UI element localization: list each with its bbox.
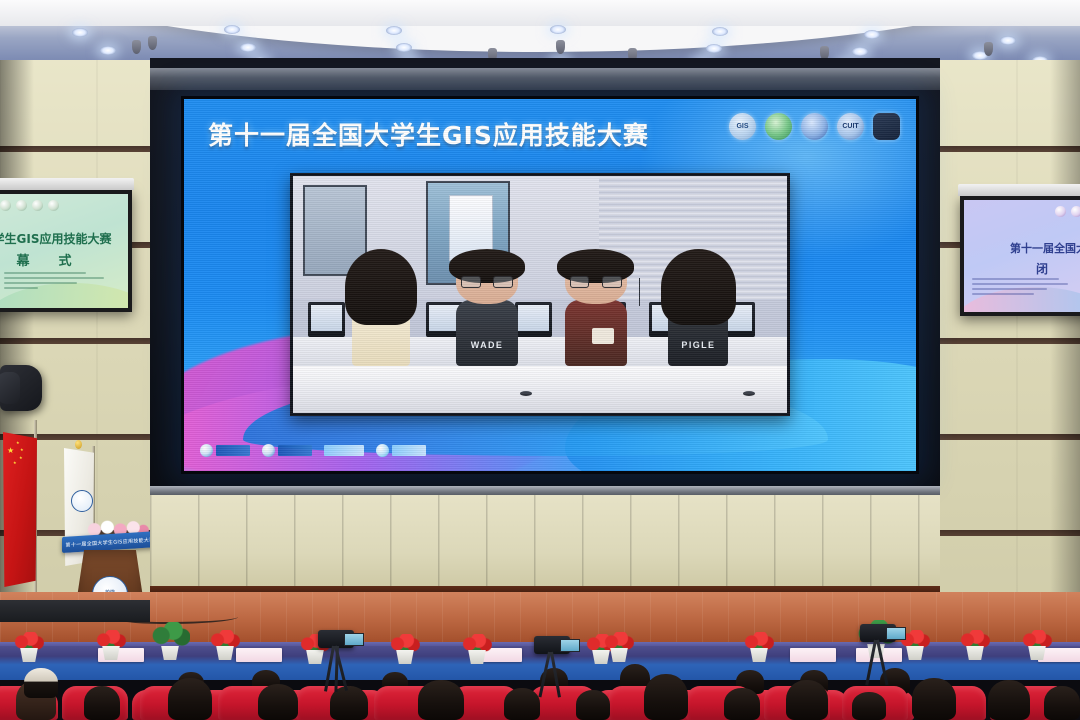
- audience-head: [258, 684, 298, 720]
- downlight: [864, 30, 880, 39]
- participant-hair: [345, 249, 417, 325]
- downlight: [712, 27, 728, 36]
- ceiling-speaker-icon: [148, 36, 157, 50]
- sponsor-tiandi-logo: [376, 444, 426, 457]
- sponsor-hangtian-logo: [262, 444, 312, 457]
- slide-body-lines: [4, 272, 118, 292]
- stage-wall-panels: [150, 495, 940, 591]
- sponsor-mark-icon: [376, 444, 389, 457]
- participant-head: [456, 258, 518, 304]
- video-camera-left[interactable]: [318, 630, 354, 648]
- screen-casing: [958, 184, 1080, 196]
- name-card: [236, 648, 282, 662]
- downlight: [706, 44, 722, 53]
- ceiling-edge-trim: [0, 0, 1080, 26]
- hall-speaker-horn: [0, 372, 20, 404]
- downlight: [852, 47, 868, 56]
- ceiling-speaker-icon: [984, 42, 993, 56]
- participant-hair: [661, 249, 735, 325]
- audience-head: [644, 674, 688, 720]
- garment-text: PIGLE: [681, 340, 715, 350]
- slide-emblem-row: [1055, 206, 1080, 217]
- audience-head: [724, 688, 760, 720]
- sponsor-wordmark: [324, 445, 364, 456]
- audience-head-with-cap: [24, 668, 58, 698]
- sponsor-smartmap-logo: [324, 445, 364, 456]
- downlight: [396, 43, 412, 52]
- participant-torso: WADE: [456, 300, 518, 366]
- audience-head: [852, 692, 886, 720]
- screen-casing: [0, 178, 134, 190]
- downlight: [550, 25, 566, 34]
- desk-lamp-arm: [639, 278, 641, 306]
- camera-lcd-screen: [560, 639, 580, 652]
- participant-head: [668, 258, 728, 304]
- video-camera-right[interactable]: [534, 636, 570, 654]
- video-feed-image: WADE: [293, 176, 787, 413]
- audience-head: [504, 688, 540, 720]
- emblem-row: GIS CUIT: [729, 113, 900, 140]
- video-participant: WADE: [456, 258, 518, 366]
- slide-emblem-row: [0, 200, 59, 211]
- audience-head: [912, 678, 956, 720]
- audience-head: [786, 680, 828, 720]
- sponsor-wordmark: [392, 445, 426, 456]
- institute-emblem-icon: [873, 113, 900, 140]
- audience-head: [1044, 686, 1080, 720]
- slide-left: 学生GIS应用技能大赛 幕 式: [0, 194, 128, 308]
- video-conference-feed[interactable]: WADE: [290, 173, 790, 416]
- led-content: 第十一届全国大学生GIS应用技能大赛 GIS CUIT: [184, 99, 916, 471]
- auditorium-scene: 第十一届全国大学生GIS应用技能大赛 GIS CUIT: [0, 0, 1080, 720]
- audience-head: [84, 686, 120, 720]
- glasses-icon: [461, 276, 513, 288]
- downlight: [72, 28, 88, 37]
- downlight: [386, 26, 402, 35]
- downlight: [100, 46, 116, 55]
- participant-head: [565, 258, 627, 304]
- sponsor-mark-icon: [262, 444, 275, 457]
- university-seal-icon: [71, 490, 93, 512]
- name-card: [790, 648, 836, 662]
- glasses-icon: [570, 276, 622, 288]
- slide-subtitle-left: 幕 式: [0, 250, 114, 269]
- audience-head: [418, 680, 464, 720]
- sponsor-row: [200, 444, 426, 457]
- downlight: [240, 43, 256, 52]
- wall-shadow-right: [1050, 60, 1080, 660]
- slide-right: 第十一届全国大学 闭: [964, 200, 1080, 312]
- lab-monitor: [515, 302, 552, 338]
- projection-screen-left[interactable]: 学生GIS应用技能大赛 幕 式: [0, 190, 132, 312]
- cuit-emblem-icon: CUIT: [837, 113, 864, 140]
- audience-head: [988, 680, 1030, 720]
- name-badge: [592, 328, 614, 344]
- gis-association-emblem-icon: GIS: [729, 113, 756, 140]
- slide-title-right: 第十一届全国大学: [992, 240, 1080, 256]
- ceiling-speaker-icon: [556, 40, 565, 54]
- audience-head: [576, 690, 610, 720]
- sponsor-supermap-logo: [200, 444, 250, 457]
- slide-title-left: 学生GIS应用技能大赛: [0, 230, 118, 247]
- sponsor-wordmark: [216, 445, 250, 456]
- participant-head: [352, 258, 410, 304]
- video-camera-far-right[interactable]: [860, 624, 896, 642]
- projection-screen-right[interactable]: 第十一届全国大学 闭: [960, 196, 1080, 316]
- podium-banner-text: 第十一届全国大学生GIS应用技能大赛: [65, 533, 155, 551]
- audience-head: [168, 678, 212, 720]
- event-title: 第十一届全国大学生GIS应用技能大赛: [208, 116, 649, 152]
- video-participant: [565, 258, 627, 366]
- slide-subtitle-right: 闭: [980, 260, 1080, 277]
- podium-banner-plate: 第十一届全国大学生GIS应用技能大赛: [62, 531, 158, 553]
- downlight: [1000, 36, 1016, 45]
- downlight: [224, 25, 240, 34]
- led-display[interactable]: 第十一届全国大学生GIS应用技能大赛 GIS CUIT: [181, 96, 919, 474]
- slide-body-lines: [972, 278, 1079, 298]
- backdrop-metal-trim: [150, 68, 940, 90]
- flag-china: ★ ★ ★ ★ ★: [3, 432, 37, 587]
- camera-lcd-screen: [886, 627, 906, 640]
- green-globe-emblem-icon: [765, 113, 792, 140]
- video-participant: [352, 258, 410, 366]
- participant-torso: [565, 300, 627, 366]
- conference-table: [293, 366, 787, 413]
- university-seal-emblem-icon: [801, 113, 828, 140]
- lab-monitor: [308, 302, 345, 338]
- video-participant: PIGLE: [668, 258, 728, 366]
- garment-text: WADE: [471, 340, 504, 350]
- ceiling-speaker-icon: [132, 40, 141, 54]
- flag-finial: [75, 440, 82, 449]
- camera-lcd-screen: [344, 633, 364, 646]
- sponsor-wordmark: [278, 445, 312, 456]
- sponsor-mark-icon: [200, 444, 213, 457]
